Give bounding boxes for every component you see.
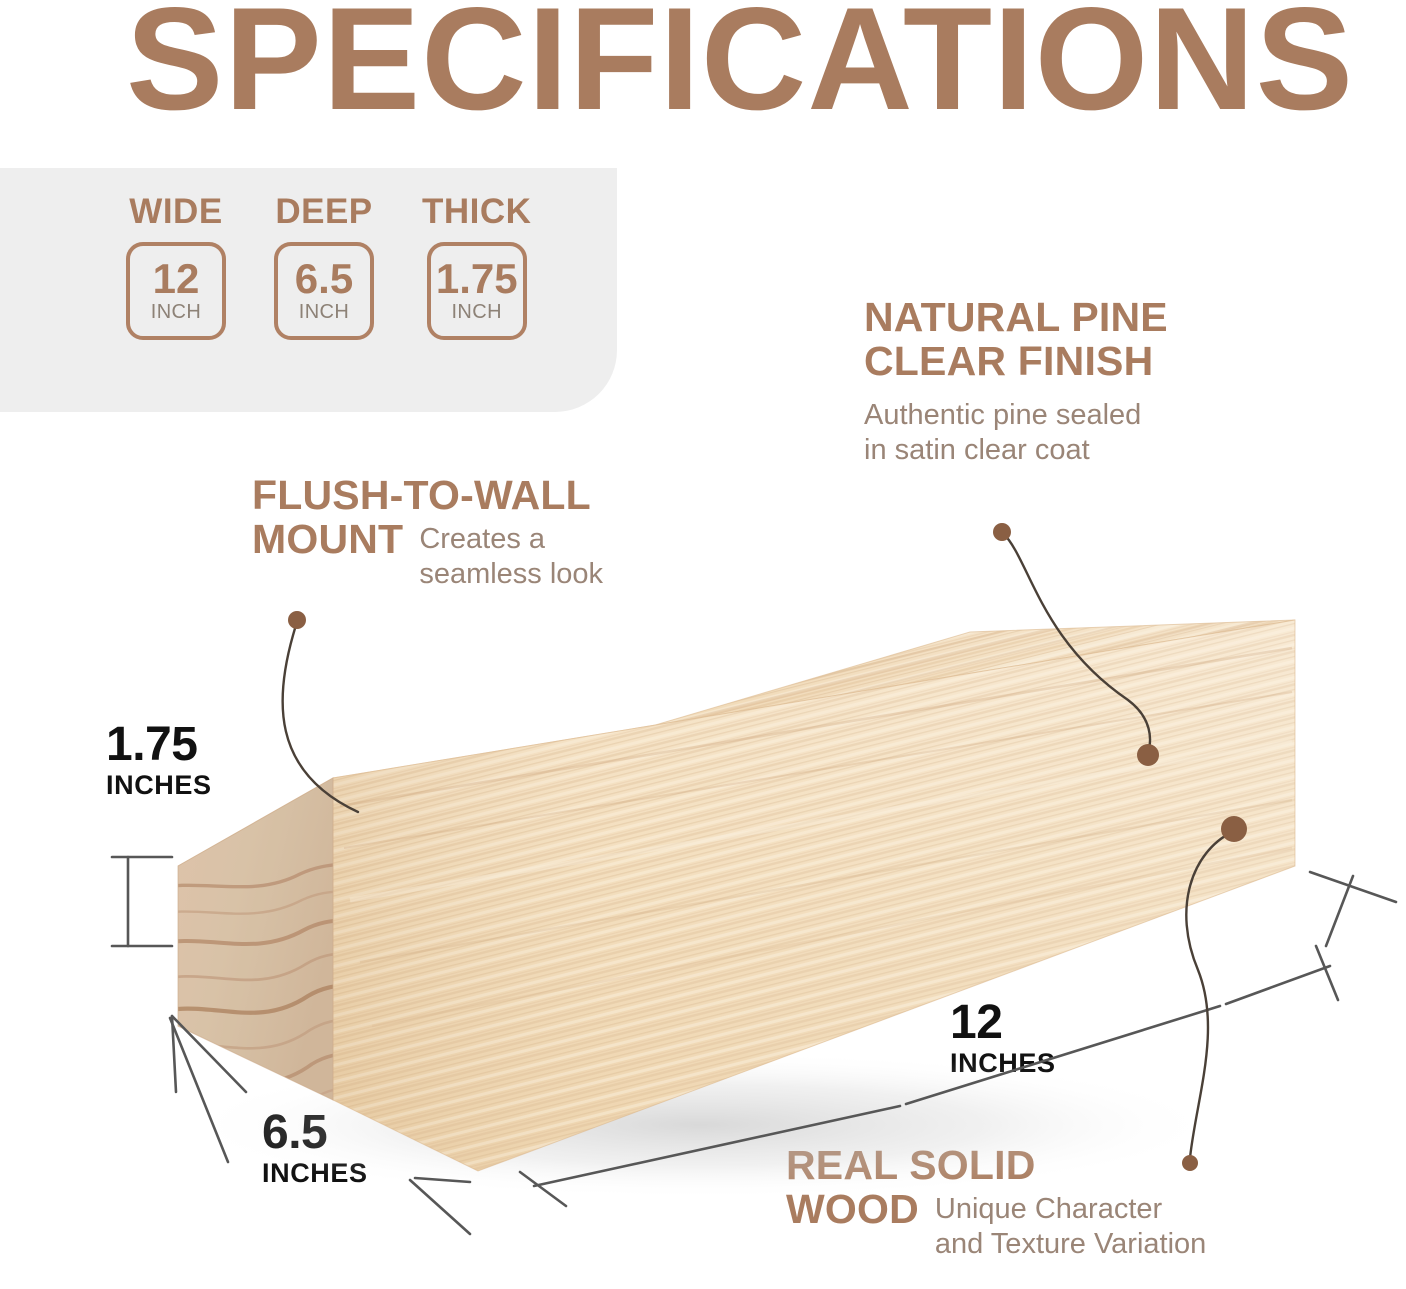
leader-flush [283, 622, 358, 812]
leader-dot-natural-end [1137, 744, 1159, 766]
leader-dot-flush [288, 611, 306, 629]
leader-natural [1003, 533, 1150, 752]
infographic-canvas: 1.75 INCHES 6.5 INCHES 12 INCHES NATURAL… [0, 0, 1406, 1289]
leader-dot-real-end [1182, 1155, 1198, 1171]
leader-dots [288, 523, 1247, 1171]
leader-real [1186, 832, 1232, 1158]
leader-lines [0, 0, 1406, 1289]
leader-dot-natural [993, 523, 1011, 541]
leader-dot-real [1221, 816, 1247, 842]
